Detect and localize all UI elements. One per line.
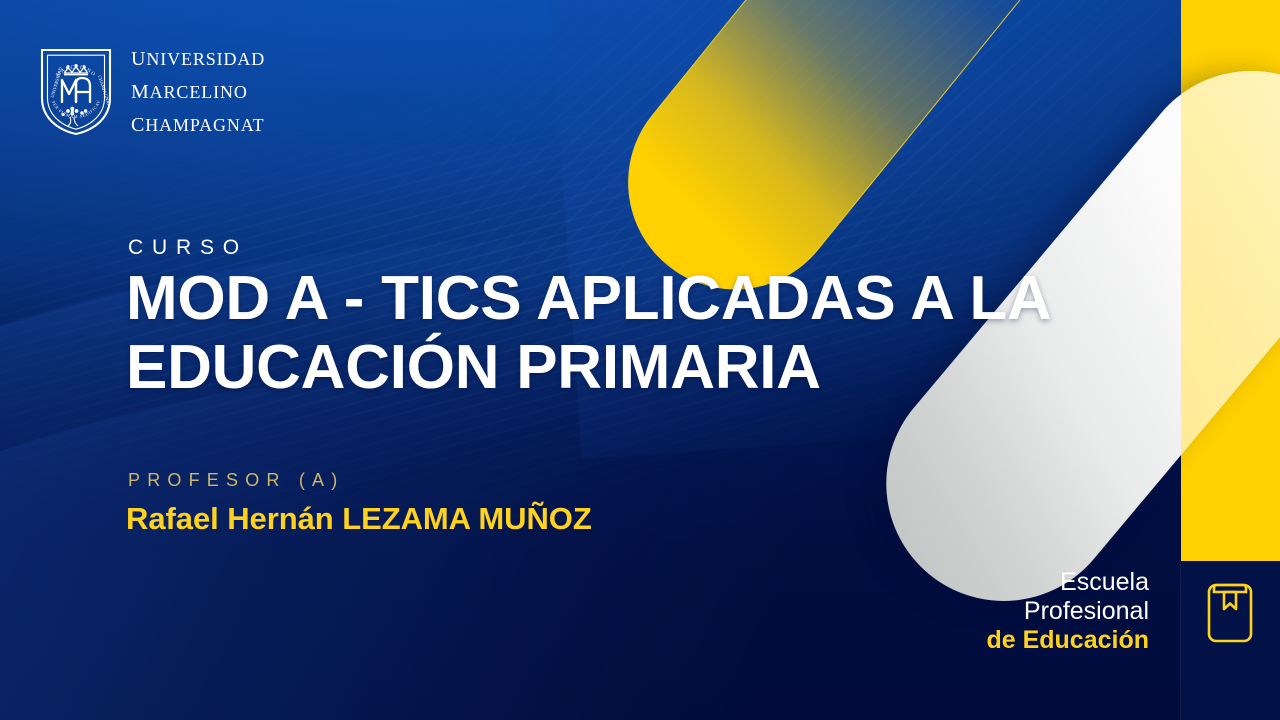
university-wordmark: Universidad Marcelino Champagnat xyxy=(131,40,265,139)
logo-line-3: Champagnat xyxy=(131,106,265,139)
logo-line-1: Universidad xyxy=(131,40,265,73)
panel-divider xyxy=(1180,561,1181,720)
book-bookmark-icon xyxy=(1206,582,1254,644)
course-title-slide: MARCELINO SUPER FIRMAM AEDIFICAVIT UNIVE… xyxy=(0,0,1280,720)
logo-line-2: Marcelino xyxy=(131,73,265,106)
brand-line-3: de Educación xyxy=(986,626,1149,655)
professor-name: Rafael Hernán LEZAMA MUÑOZ xyxy=(126,501,592,537)
brand-line-1: Escuela xyxy=(986,568,1149,597)
university-logo: MARCELINO SUPER FIRMAM AEDIFICAVIT UNIVE… xyxy=(38,40,265,139)
professor-label: PROFESOR (A) xyxy=(128,470,344,491)
decorative-white-pill-over-yellow xyxy=(1181,0,1280,561)
course-eyebrow-label: CURSO xyxy=(128,236,248,260)
school-brand: Escuela Profesional de Educación xyxy=(986,568,1149,655)
brand-line-2: Profesional xyxy=(986,597,1149,626)
university-crest-icon: MARCELINO SUPER FIRMAM AEDIFICAVIT UNIVE… xyxy=(38,44,114,136)
course-title: MOD A - TICS APLICADAS A LA EDUCACIÓN PR… xyxy=(126,264,1056,403)
